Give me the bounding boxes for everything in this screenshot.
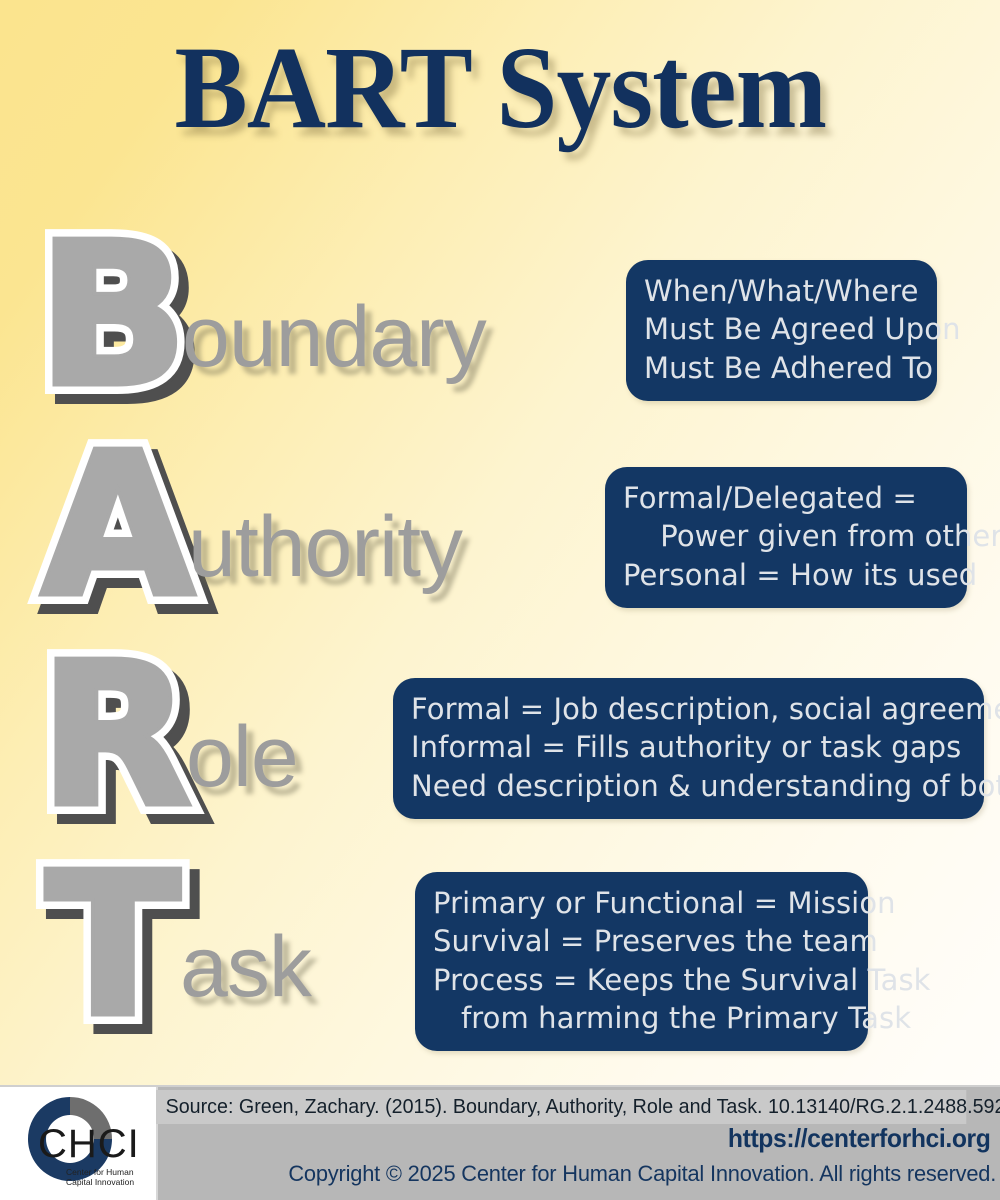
callout-authority-line-3: Personal = How its used: [623, 556, 949, 594]
word-boundary-rest: oundary: [182, 294, 486, 380]
chci-logo-icon: CHCI Center for Human Capital Innovation: [8, 1091, 150, 1197]
infographic-poster: BART System B B B oundary When/What/Wher…: [0, 0, 1000, 1200]
callout-role: Formal = Job description, social agreeme…: [393, 678, 984, 819]
callout-task-line-1: Primary or Functional = Mission: [433, 884, 850, 922]
callout-boundary-line-2: Must Be Agreed Upon: [644, 310, 919, 348]
callout-boundary: When/What/Where Must Be Agreed Upon Must…: [626, 260, 937, 401]
copyright-notice: Copyright © 2025 Center for Human Capita…: [181, 1161, 1000, 1187]
callout-boundary-line-1: When/What/Where: [644, 272, 919, 310]
source-citation: Source: Green, Zachary. (2015). Boundary…: [156, 1090, 966, 1124]
callout-role-line-1: Formal = Job description, social agreeme…: [411, 690, 966, 728]
word-authority-rest: uthority: [188, 504, 462, 590]
callout-task: Primary or Functional = Mission Survival…: [415, 872, 868, 1051]
word-role-rest: ole: [186, 714, 298, 800]
svg-text:CHCI: CHCI: [38, 1122, 140, 1166]
callout-role-line-2: Informal = Fills authority or task gaps: [411, 728, 966, 766]
callout-authority-line-1: Formal/Delegated =: [623, 479, 949, 517]
logo-tagline-line1: Center for Human: [66, 1167, 134, 1177]
big-letter-b-fill: B: [38, 218, 187, 414]
callout-role-line-3: Need description & understanding of both: [411, 767, 966, 805]
callout-authority-line-2: Power given from others: [623, 517, 949, 555]
callout-task-line-2: Survival = Preserves the team: [433, 922, 850, 960]
logo-container: CHCI Center for Human Capital Innovation: [0, 1087, 158, 1200]
website-url[interactable]: https://centerforhci.org: [198, 1123, 1000, 1154]
logo-tagline-line2: Capital Innovation: [66, 1177, 134, 1187]
callout-task-line-4: from harming the Primary Task: [433, 999, 850, 1037]
big-letter-t-fill: T: [46, 848, 180, 1044]
page-title-wrap: BART System: [0, 26, 1000, 150]
callout-authority: Formal/Delegated = Power given from othe…: [605, 467, 967, 608]
callout-task-line-3: Process = Keeps the Survival Task: [433, 961, 850, 999]
word-task-rest: ask: [180, 924, 311, 1010]
page-title: BART System: [174, 26, 826, 150]
footer-bar: CHCI Center for Human Capital Innovation…: [0, 1085, 1000, 1200]
big-letter-a-fill: A: [42, 428, 194, 624]
big-letter-r-fill: R: [40, 638, 191, 834]
callout-boundary-line-3: Must Be Adhered To: [644, 349, 919, 387]
